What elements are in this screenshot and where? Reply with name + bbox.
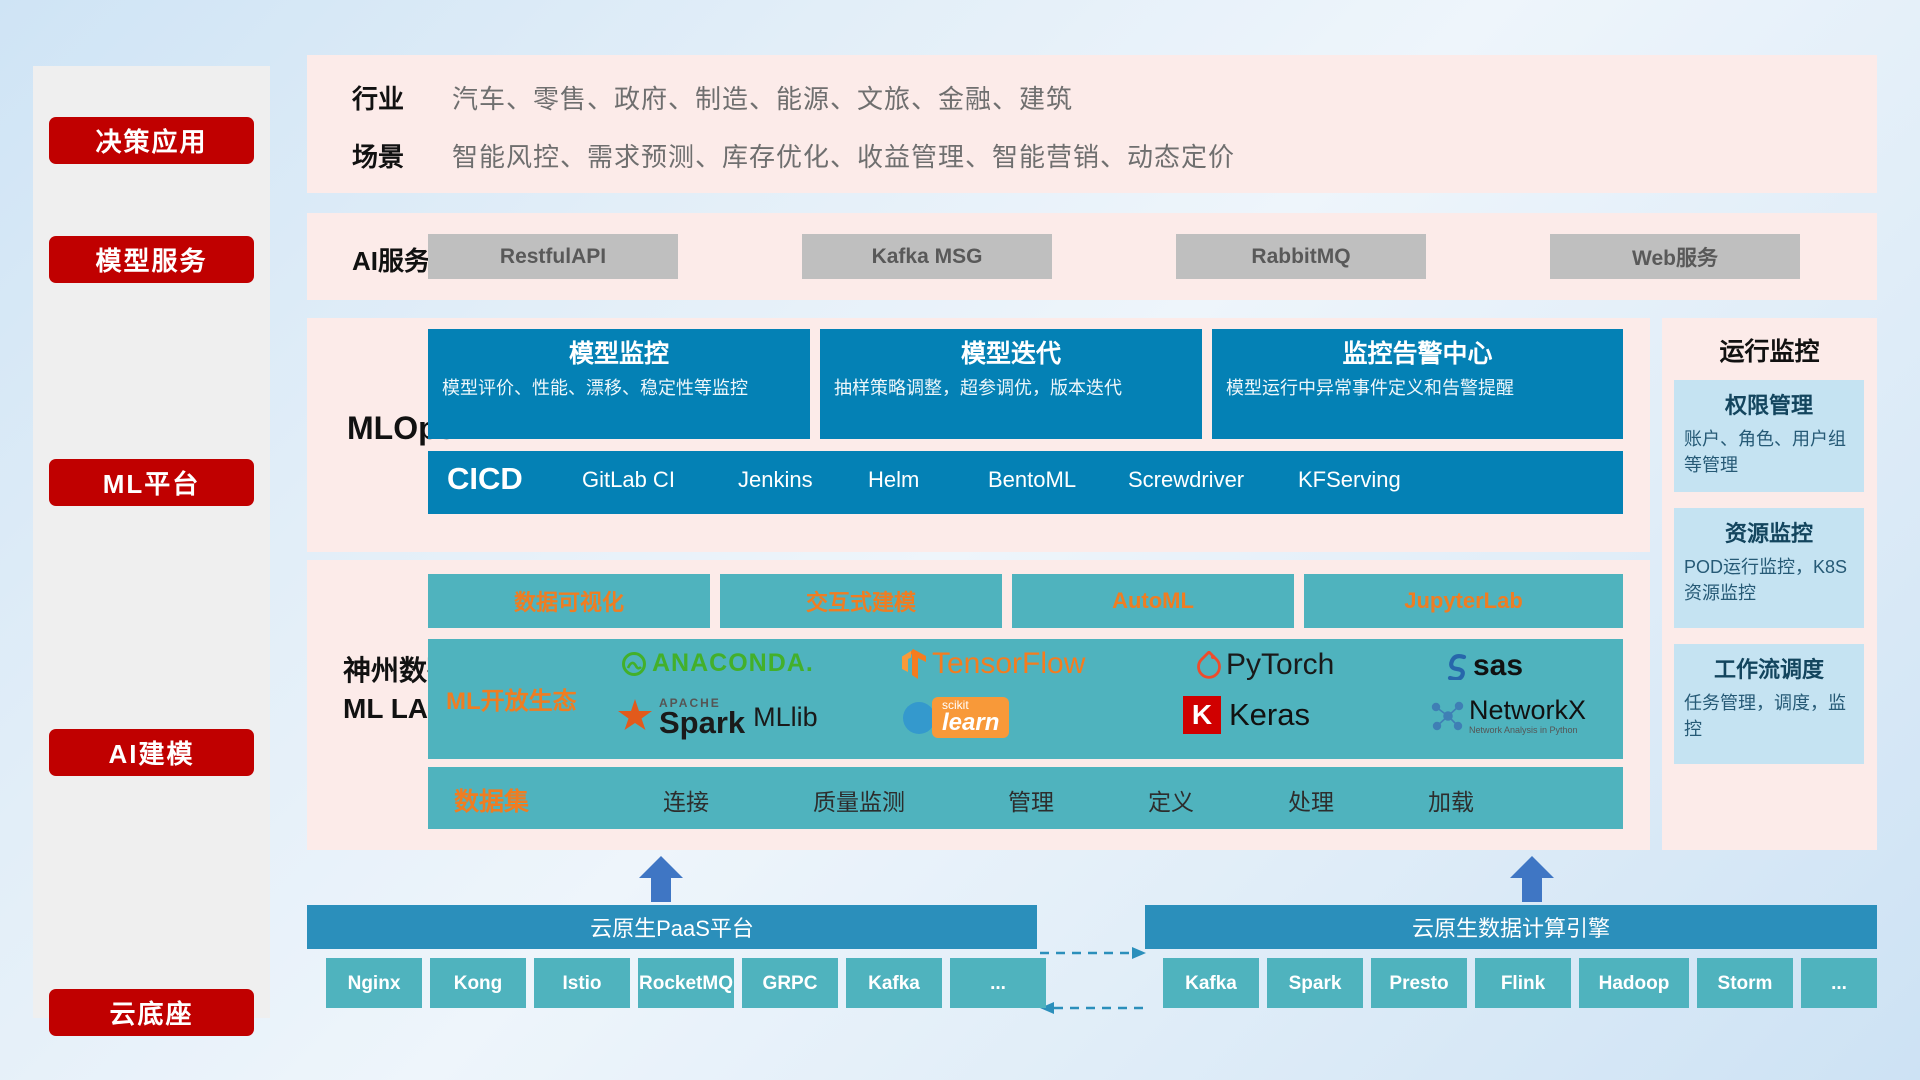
anaconda-mark-icon (621, 651, 647, 677)
pytorch-mark-icon (1196, 651, 1222, 679)
cicd-item-screwdriver[interactable]: Screwdriver (1128, 465, 1248, 495)
dashed-arrow-left-icon (1040, 1000, 1146, 1016)
service-chip-restfulapi[interactable]: RestfulAPI (428, 234, 678, 279)
keras-mark-icon: K (1183, 696, 1221, 734)
tensorflow-wordmark: TensorFlow (932, 647, 1085, 681)
mlops-card-model-monitor[interactable]: 模型监控 模型评价、性能、漂移、稳定性等监控 (428, 329, 810, 439)
ai-modeling-panel: 神州数码 ML LAB 数据可视化 交互式建模 AutoML JupyterLa… (307, 560, 1650, 850)
application-panel: 行业 汽车、零售、政府、制造、能源、文旅、金融、建筑 场景 智能风控、需求预测、… (307, 55, 1877, 193)
chip-label: Kong (454, 973, 503, 994)
stage-label: ML平台 (103, 464, 201, 501)
ml-ecosystem-label: ML开放生态 (446, 681, 577, 716)
keras-logo: K Keras (1183, 696, 1310, 734)
monitor-card-title: 权限管理 (1684, 388, 1854, 420)
lab-tab-data-visualization[interactable]: 数据可视化 (428, 574, 710, 628)
base-chip-grpc[interactable]: GRPC (742, 958, 838, 1008)
ml-ecosystem-box: ML开放生态 ANACONDA. TensorFlow PyTorch (428, 639, 1623, 759)
sas-mark-icon (1443, 652, 1471, 680)
card-desc: 模型评价、性能、漂移、稳定性等监控 (442, 375, 796, 401)
runtime-monitor-panel: 运行监控 权限管理 账户、角色、用户组等管理 资源监控 POD运行监控，K8S资… (1662, 318, 1877, 850)
lab-tab-interactive-modeling[interactable]: 交互式建模 (720, 574, 1002, 628)
chip-label: Hadoop (1599, 973, 1670, 994)
base-chip-storm[interactable]: Storm (1697, 958, 1793, 1008)
bar-label: 云原生数据计算引擎 (1412, 911, 1610, 943)
industry-label: 行业 (352, 79, 404, 116)
stage-label: 云底座 (109, 994, 193, 1031)
card-title: 监控告警中心 (1226, 337, 1609, 371)
monitor-card-permission[interactable]: 权限管理 账户、角色、用户组等管理 (1674, 380, 1864, 492)
tab-label: AutoML (1112, 588, 1194, 614)
dataset-item-define[interactable]: 定义 (1148, 783, 1194, 817)
tab-label: 数据可视化 (514, 585, 624, 617)
pytorch-wordmark: PyTorch (1226, 648, 1334, 682)
dataset-item-manage[interactable]: 管理 (1008, 783, 1054, 817)
chip-label: Nginx (348, 973, 401, 994)
chip-label: RocketMQ (639, 973, 733, 994)
chip-label: Web服务 (1632, 242, 1718, 272)
scikit-learn-wordmark: learn (942, 711, 999, 735)
monitor-card-desc: 任务管理，调度，监控 (1684, 690, 1854, 742)
networkx-logo: NetworkX Network Analysis in Python (1428, 697, 1586, 735)
base-chip-kong[interactable]: Kong (430, 958, 526, 1008)
anaconda-logo: ANACONDA. (621, 649, 814, 678)
mllib-wordmark: MLlib (753, 702, 818, 733)
card-title: 模型迭代 (834, 337, 1188, 371)
networkx-mark-icon (1428, 697, 1466, 735)
dashed-arrow-right-icon (1040, 945, 1146, 961)
cicd-item-jenkins[interactable]: Jenkins (738, 465, 858, 495)
chip-label: Flink (1501, 973, 1545, 994)
networkx-tagline: Network Analysis in Python (1469, 726, 1586, 735)
monitor-card-resource[interactable]: 资源监控 POD运行监控，K8S资源监控 (1674, 508, 1864, 628)
chip-label: Storm (1718, 973, 1773, 994)
base-chip-kafka-left[interactable]: Kafka (846, 958, 942, 1008)
chip-label: Istio (562, 973, 601, 994)
base-chip-more-left[interactable]: ... (950, 958, 1046, 1008)
runtime-monitor-title: 运行监控 (1662, 332, 1877, 368)
card-desc: 抽样策略调整，超参调优，版本迭代 (834, 375, 1188, 401)
chip-label: ... (1831, 973, 1847, 994)
dataset-item-load[interactable]: 加载 (1428, 783, 1474, 817)
chip-label: ... (990, 973, 1006, 994)
cicd-item-bentoml[interactable]: BentoML (988, 465, 1108, 495)
stage-label: AI建模 (108, 734, 194, 771)
chip-label: Presto (1389, 973, 1448, 994)
dataset-bar: 数据集 连接 质量监测 管理 定义 处理 加载 (428, 767, 1623, 829)
sas-logo: sas (1443, 649, 1523, 683)
base-chip-more-right[interactable]: ... (1801, 958, 1877, 1008)
cicd-bar: CICD GitLab CI Jenkins Helm BentoML Scre… (428, 451, 1623, 514)
chip-label: RestfulAPI (500, 245, 606, 269)
chip-label: Kafka (868, 973, 920, 994)
stage-pill-ai-modeling[interactable]: AI建模 (49, 729, 254, 776)
spark-mllib-logo: APACHE Spark MLlib (613, 695, 818, 739)
networkx-wordmark: NetworkX (1469, 697, 1586, 724)
monitor-card-desc: POD运行监控，K8S资源监控 (1684, 554, 1854, 606)
card-title: 模型监控 (442, 337, 796, 371)
scikit-learn-logo: scikit learn (900, 697, 1009, 738)
tensorflow-mark-icon (900, 649, 928, 679)
pytorch-logo: PyTorch (1196, 648, 1334, 682)
base-chip-kafka-right[interactable]: Kafka (1163, 958, 1259, 1008)
stage-pill-model-service[interactable]: 模型服务 (49, 236, 254, 283)
monitor-card-title: 资源监控 (1684, 516, 1854, 548)
chip-label: RabbitMQ (1251, 245, 1350, 269)
keras-mark-letter: K (1192, 699, 1212, 731)
chip-label: GRPC (763, 973, 818, 994)
service-chip-kafka-msg[interactable]: Kafka MSG (802, 234, 1052, 279)
up-arrow-left-icon (639, 856, 683, 902)
bar-label: 云原生PaaS平台 (590, 911, 754, 943)
scenario-list: 智能风控、需求预测、库存优化、收益管理、智能营销、动态定价 (452, 137, 1235, 174)
data-engine-bar[interactable]: 云原生数据计算引擎 (1145, 905, 1877, 949)
base-chip-istio[interactable]: Istio (534, 958, 630, 1008)
spark-wordmark: Spark (659, 707, 745, 738)
lab-tab-jupyterlab[interactable]: JupyterLab (1304, 574, 1623, 628)
service-chip-web-service[interactable]: Web服务 (1550, 234, 1800, 279)
ai-service-label: AI服务 (352, 241, 430, 278)
monitor-card-workflow[interactable]: 工作流调度 任务管理，调度，监控 (1674, 644, 1864, 764)
tensorflow-logo: TensorFlow (900, 647, 1085, 681)
service-chip-rabbitmq[interactable]: RabbitMQ (1176, 234, 1426, 279)
dataset-title: 数据集 (454, 782, 529, 818)
keras-wordmark: Keras (1229, 697, 1310, 733)
stage-pill-cloud-base[interactable]: 云底座 (49, 989, 254, 1036)
stage-pill-ml-platform[interactable]: ML平台 (49, 459, 254, 506)
lab-tab-automl[interactable]: AutoML (1012, 574, 1294, 628)
dataset-item-quality[interactable]: 质量监测 (813, 783, 905, 817)
cicd-item-helm[interactable]: Helm (868, 465, 988, 495)
stage-pill-decision[interactable]: 决策应用 (49, 117, 254, 164)
chip-label: Kafka MSG (872, 245, 983, 269)
industry-list: 汽车、零售、政府、制造、能源、文旅、金融、建筑 (452, 79, 1073, 116)
dataset-item-process[interactable]: 处理 (1288, 783, 1334, 817)
scenario-label: 场景 (352, 137, 404, 174)
chip-label: Spark (1289, 973, 1342, 994)
mlops-card-model-iteration[interactable]: 模型迭代 抽样策略调整，超参调优，版本迭代 (820, 329, 1202, 439)
stage-label: 决策应用 (95, 122, 207, 159)
mlops-card-alert-center[interactable]: 监控告警中心 模型运行中异常事件定义和告警提醒 (1212, 329, 1623, 439)
stage-rail: 决策应用 模型服务 ML平台 AI建模 云底座 (33, 66, 270, 1018)
base-chip-presto[interactable]: Presto (1371, 958, 1467, 1008)
paas-platform-bar[interactable]: 云原生PaaS平台 (307, 905, 1037, 949)
base-chip-spark[interactable]: Spark (1267, 958, 1363, 1008)
up-arrow-right-icon (1510, 856, 1554, 902)
monitor-card-title: 工作流调度 (1684, 652, 1854, 684)
anaconda-wordmark: ANACONDA. (652, 649, 814, 678)
stage-label: 模型服务 (95, 241, 207, 278)
base-chip-nginx[interactable]: Nginx (326, 958, 422, 1008)
dataset-item-connect[interactable]: 连接 (663, 783, 709, 817)
monitor-card-desc: 账户、角色、用户组等管理 (1684, 426, 1854, 478)
spark-mark-icon (613, 695, 657, 739)
card-desc: 模型运行中异常事件定义和告警提醒 (1226, 375, 1609, 401)
cicd-title: CICD (447, 461, 523, 497)
base-chip-hadoop[interactable]: Hadoop (1579, 958, 1689, 1008)
tab-label: 交互式建模 (806, 585, 916, 617)
base-chip-flink[interactable]: Flink (1475, 958, 1571, 1008)
chip-label: Kafka (1185, 973, 1237, 994)
mlops-panel: MLOps 模型监控 模型评价、性能、漂移、稳定性等监控 模型迭代 抽样策略调整… (307, 318, 1650, 552)
sas-wordmark: sas (1473, 649, 1523, 683)
ai-service-panel: AI服务 RestfulAPI Kafka MSG RabbitMQ Web服务 (307, 213, 1877, 300)
cicd-item-gitlab-ci[interactable]: GitLab CI (582, 465, 702, 495)
tab-label: JupyterLab (1404, 588, 1523, 614)
base-chip-rocketmq[interactable]: RocketMQ (638, 958, 734, 1008)
cicd-item-kfserving[interactable]: KFServing (1298, 465, 1418, 495)
